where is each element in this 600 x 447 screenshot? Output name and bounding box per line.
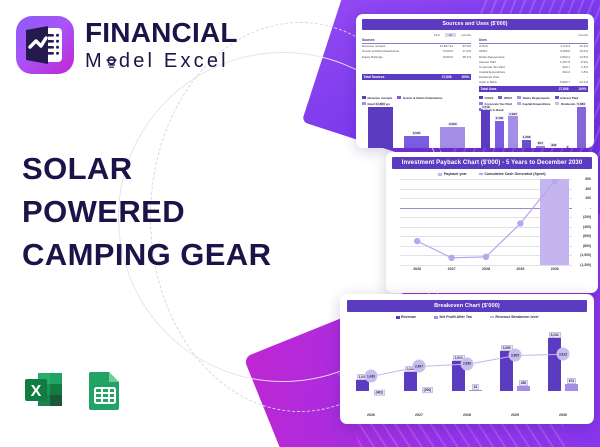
legend-label: Revenue Breakeven level (495, 315, 538, 319)
bar-item: 3,993 (506, 112, 520, 148)
sources-uses-charts: Revenue receiptsGrants & Debts Drawdowns… (362, 93, 588, 148)
legend-label: Payback year (444, 172, 467, 176)
brand-line-2-m: M (85, 51, 105, 71)
sources-bar-chart[interactable]: Revenue receiptsGrants & Debts Drawdowns… (362, 93, 471, 148)
row-label: Corporate Tax Paid (479, 65, 544, 69)
excel-icon[interactable]: X (22, 368, 66, 412)
uses-table: months Uses COGS 4,719.3 24.1% OPEX 3,46… (479, 33, 588, 92)
row-value: 392.0 (544, 70, 570, 74)
x-axis-tick-label: 2029 (511, 413, 519, 417)
brand-line-2: M del Excel (85, 51, 238, 71)
legend-item: Cumulative Cash Generated (Spent) (479, 172, 546, 176)
y-axis-tick-label: (1,000) (580, 253, 591, 257)
x-axis-tick-label: 2026 (367, 413, 375, 417)
row-label: COGS (479, 44, 544, 48)
total-label: Total Sources (364, 75, 426, 79)
bar-item: 458 (515, 380, 531, 391)
sources-header-months-value: 60 (445, 33, 456, 37)
uses-bar-chart[interactable]: COGSOPEXDebts RepaymentsInterest PaidCor… (479, 93, 588, 148)
breakeven-point-label: 2,407 (413, 360, 426, 373)
card-sources-and-uses[interactable]: Sources and Uses ($'000) First 60 months… (356, 14, 594, 148)
bar-item: 14,808 (362, 102, 398, 148)
bar-value-label: (462) (374, 390, 385, 396)
row-pct: 14.5% (570, 55, 588, 59)
bar-item: 0 (561, 145, 575, 148)
sources-uses-title: Sources and Uses ($'000) (362, 19, 588, 30)
bar-value-label: 14,808 (375, 102, 386, 106)
bar (536, 146, 545, 148)
bar-item: (206) (419, 387, 435, 393)
row-label: Equity Raisings (362, 55, 427, 59)
bar-item: (462) (371, 390, 387, 396)
breakeven-point-label: 1,439 (365, 370, 378, 383)
breakeven-chart-legend: RevenueNet Profit After TaxRevenue Break… (347, 315, 587, 319)
bar-item: 43 (467, 384, 483, 391)
sources-chart-bars: 14,8085,0008,000 (362, 99, 471, 148)
bar (517, 386, 530, 391)
file-format-icons: X (22, 368, 127, 412)
row-pct: 53.9% (453, 44, 471, 48)
uses-header-months: months (578, 33, 588, 37)
page-title-line-2: POWERED (22, 191, 271, 234)
legend-label: Cumulative Cash Generated (Spent) (484, 172, 545, 176)
row-value: 3,468.8 (544, 49, 570, 53)
y-axis-tick-label: (400) (583, 225, 591, 229)
grid-line (400, 265, 572, 266)
y-axis-tick-label: (1,200) (580, 263, 591, 267)
google-sheets-icon[interactable] (83, 368, 127, 412)
legend-swatch (490, 316, 494, 317)
row-value: 603.7 (544, 65, 570, 69)
payback-chart-x-axis: 20262027202820292030 (400, 267, 572, 271)
row-label: Grants & Debts Drawdowns (362, 49, 427, 53)
bar (565, 384, 578, 391)
bar-value-label: 4,719 (481, 105, 491, 109)
bar (548, 338, 561, 391)
bar (469, 390, 482, 391)
bar-group: 5,244673 (547, 332, 580, 391)
bar (368, 107, 393, 148)
legend-label: Revenue (401, 315, 416, 319)
page-title-line-1: SOLAR (22, 148, 271, 191)
x-axis-tick-label: 2030 (551, 267, 559, 271)
total-pct: 100% (569, 87, 587, 91)
payback-chart-legend: Payback yearCumulative Cash Generated (S… (392, 172, 592, 176)
bar-value-label: (206) (422, 387, 433, 393)
row-pct: - (570, 75, 588, 79)
row-pct: 2.3% (570, 65, 588, 69)
table-row: Equity Raisings 8,000.0 28.7% (362, 54, 471, 59)
row-value: 4,719.3 (544, 44, 570, 48)
card-investment-payback[interactable]: Investment Payback Chart ($'000) - 5 Yea… (386, 152, 598, 293)
sources-uses-tables: First 60 months Sources Revenue receipts… (362, 33, 588, 92)
row-value: 3,993.4 (544, 55, 570, 59)
bar (404, 372, 417, 391)
row-value: 1,267.8 (544, 60, 570, 64)
total-label: Total Uses (481, 87, 543, 91)
brand-line-2-rest: del Excel (119, 51, 229, 71)
bar-item: 392 (547, 143, 561, 148)
row-pct: 19.6% (570, 49, 588, 53)
legend-item: Net Profit After Tax (434, 315, 472, 319)
bar-item: 3,469 (493, 116, 507, 148)
x-axis-tick-label: 2027 (448, 267, 456, 271)
svg-text:X: X (31, 383, 42, 400)
bar-item: 5,000 (398, 131, 434, 148)
uses-header-row: months (479, 33, 588, 37)
sources-header-row: First 60 months (362, 33, 471, 37)
bar (508, 116, 517, 148)
table-row: Grants & Debts Drawdowns 5,000.0 17.0% (362, 49, 471, 54)
bar (522, 140, 531, 148)
y-axis-tick-label: 600 (585, 177, 591, 181)
x-axis-tick-label: 2026 (413, 267, 421, 271)
sources-header-first: First (434, 33, 440, 37)
bar-value-label: 8,000 (448, 122, 458, 126)
row-label: Dividends Paid (479, 75, 544, 79)
x-axis-tick-label: 2028 (482, 267, 490, 271)
bar-value-label: 3,469 (495, 116, 505, 120)
table-row: COGS 4,719.3 24.1% (479, 44, 588, 49)
logo-glyph (16, 16, 74, 74)
row-label: Revenue receipts (362, 44, 427, 48)
row-value: 5,083.7 (544, 80, 570, 84)
table-row: Dividends Paid - - (479, 74, 588, 79)
table-row: Cash in Bank 5,083.7 24.1% (479, 79, 588, 84)
cumulative-cash-line (400, 179, 572, 265)
bar-item: 4,719 (479, 105, 493, 148)
bar-item: 5,244 (547, 332, 563, 391)
card-breakeven[interactable]: Breakeven Chart ($'000) RevenueNet Profi… (340, 294, 594, 424)
bar-item: 8,000 (435, 122, 471, 148)
row-value: - (544, 75, 570, 79)
x-axis-tick-label: 2029 (516, 267, 524, 271)
bar (440, 127, 465, 148)
brand-line-1: FINANCIAL (85, 19, 238, 47)
breakeven-chart-title: Breakeven Chart ($'000) (347, 300, 587, 312)
table-row: Revenue receipts 14,807.91 53.9% (362, 44, 471, 49)
bar (404, 136, 429, 148)
y-axis-tick-label: (600) (583, 234, 591, 238)
legend-label: Net Profit After Tax (439, 315, 471, 319)
row-value: 8,000.0 (427, 55, 453, 59)
uses-chart-bars: 4,7193,4693,9931,26860439205,084 (479, 99, 588, 148)
row-value: 14,807.91 (427, 44, 453, 48)
bar-value-label: 604 (537, 141, 544, 145)
row-label: OPEX (479, 49, 544, 53)
legend-swatch (434, 316, 438, 319)
uses-total-row: Total Uses 27,808 100% (479, 86, 588, 92)
row-pct: 24.1% (570, 44, 588, 48)
legend-swatch (479, 173, 483, 174)
y-axis-tick-label: 400 (585, 187, 591, 191)
row-label: Capital Expenditure (479, 70, 544, 74)
breakeven-point-label: 3,613 (557, 348, 570, 361)
total-value: 27,808 (426, 75, 452, 79)
sources-table: First 60 months Sources Revenue receipts… (362, 33, 471, 92)
row-pct: 24.1% (570, 80, 588, 84)
row-value: 5,000.0 (427, 49, 453, 53)
x-axis-tick-label: 2030 (559, 413, 567, 417)
page-title-line-3: CAMPING GEAR (22, 234, 271, 277)
row-label: Cash in Bank (479, 80, 544, 84)
bar-value-label: 3,993 (508, 112, 518, 116)
x-axis-tick-label: 2027 (415, 413, 423, 417)
bar-item: 1,268 (520, 135, 534, 148)
legend-swatch (438, 173, 442, 176)
row-pct: 28.7% (453, 55, 471, 59)
bar-value-label: 0 (566, 145, 570, 148)
bar (577, 107, 586, 148)
page-title: SOLAR POWERED CAMPING GEAR (22, 148, 271, 276)
payback-chart-title: Investment Payback Chart ($'000) - 5 Yea… (392, 157, 592, 169)
breakeven-point-label: 2,636 (461, 357, 474, 370)
bar-item: 5,084 (574, 102, 588, 148)
row-pct: 1.8% (570, 70, 588, 74)
y-axis-tick-label: (200) (583, 215, 591, 219)
table-row: OPEX 3,468.8 19.6% (479, 49, 588, 54)
table-row: Debts Repayments 3,993.4 14.5% (479, 54, 588, 59)
bar-value-label: 5,000 (412, 131, 422, 135)
table-row: Capital Expenditure 392.0 1.8% (479, 69, 588, 74)
bar-value-label: 5,084 (576, 102, 586, 106)
y-axis-tick-label: 200 (585, 196, 591, 200)
legend-item: Payback year (438, 172, 466, 176)
bar-value-label: 392 (550, 143, 557, 147)
legend-swatch (396, 316, 400, 319)
breakeven-point-label: 3,505 (509, 349, 522, 362)
payback-chart-plot: 600400200-(200)(400)(600)(800)(1,000)(1,… (400, 179, 572, 265)
y-axis-tick-label: (800) (583, 244, 591, 248)
row-pct: 8.9% (570, 60, 588, 64)
bar (495, 121, 504, 148)
bar-value-label: 1,268 (522, 135, 532, 139)
total-pct: 100% (452, 75, 470, 79)
sources-header-months: months (461, 33, 471, 37)
brand-wordmark: FINANCIAL M del Excel (85, 19, 238, 71)
bar-item: 604 (534, 141, 548, 148)
chart-document-icon (16, 16, 74, 74)
bar (481, 110, 490, 148)
y-axis-tick-label: - (590, 206, 591, 210)
row-label: Debts Repayments (479, 55, 544, 59)
bar-item: 673 (563, 378, 579, 391)
total-value: 27,808 (543, 87, 569, 91)
legend-item: Revenue (396, 315, 416, 319)
row-label: Interest Paid (479, 60, 544, 64)
table-row: Corporate Tax Paid 603.7 2.3% (479, 64, 588, 69)
legend-item: Revenue Breakeven level (490, 315, 539, 319)
x-axis-tick-label: 2028 (463, 413, 471, 417)
sun-o-icon (105, 52, 118, 70)
row-pct: 17.0% (453, 49, 471, 53)
sources-total-row: Total Sources 27,808 100% (362, 74, 471, 80)
breakeven-chart-plot: 1,040(462)1,848(206)2,913433,9594585,244… (347, 322, 587, 408)
table-row: Interest Paid 1,267.8 8.9% (479, 59, 588, 64)
brand-logo: FINANCIAL M del Excel (16, 16, 238, 74)
